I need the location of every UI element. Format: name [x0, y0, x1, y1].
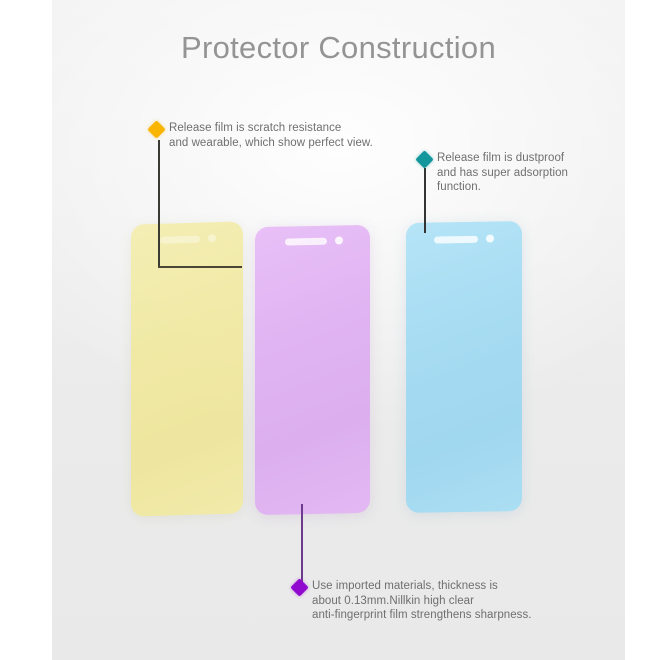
- callout-text: Use imported materials, thickness is abo…: [312, 579, 532, 623]
- diamond-icon: [290, 578, 308, 596]
- callout-scratch-resistance: Release film is scratch resistance and w…: [150, 121, 373, 150]
- earpiece-slot-cutout: [434, 236, 478, 244]
- earpiece-slot-cutout: [160, 236, 200, 244]
- callout-text: Release film is dustproof and has super …: [437, 151, 568, 195]
- blue-protector-sheet: [406, 221, 522, 513]
- product-illustration: Protector Construction Release film is s…: [0, 0, 660, 660]
- sheet-surface: [406, 221, 522, 513]
- diamond-icon: [415, 150, 433, 168]
- leader-line-yellow-vertical: [158, 140, 160, 268]
- leader-line-pink-vertical: [301, 504, 303, 586]
- sheet-surface: [255, 225, 370, 515]
- callout-imported-materials: Use imported materials, thickness is abo…: [293, 579, 532, 623]
- earpiece-slot-cutout: [285, 238, 327, 246]
- page-title: Protector Construction: [52, 30, 625, 66]
- callout-dustproof: Release film is dustproof and has super …: [418, 151, 568, 195]
- callout-text: Release film is scratch resistance and w…: [169, 121, 373, 150]
- diamond-icon: [147, 120, 165, 138]
- leader-line-yellow-horizontal: [158, 266, 242, 268]
- pink-protector-sheet: [255, 225, 370, 515]
